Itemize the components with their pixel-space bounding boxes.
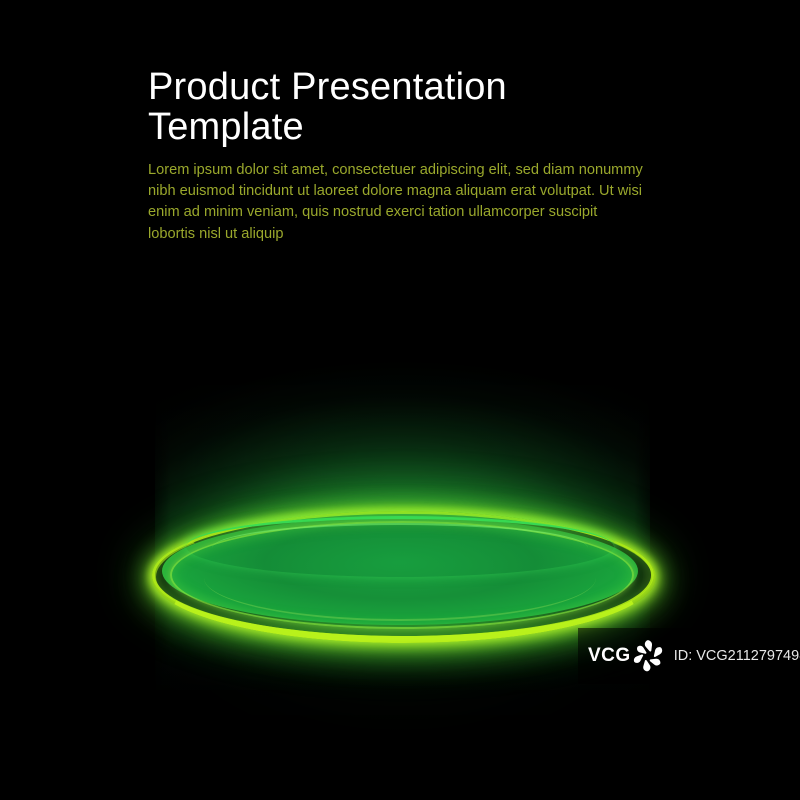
- disc-inner-ring: [170, 521, 634, 629]
- vcg-image-id: ID: VCG211279749813: [674, 648, 800, 664]
- disc-face-arc: [204, 535, 596, 621]
- vcg-pinwheel-icon: [628, 636, 668, 676]
- vcg-watermark: VCG ID: VCG211279749813: [578, 628, 800, 684]
- stage-glow-panel: [155, 345, 650, 690]
- vcg-logo: VCG: [588, 636, 668, 676]
- vcg-wordmark: VCG: [588, 645, 631, 667]
- ambient-glow-halo: [90, 330, 710, 750]
- stage-glow-panel-edge-mask: [155, 345, 650, 690]
- disc-outer-neon-ring: [152, 511, 654, 639]
- disc-top-edge-highlight: [186, 516, 614, 577]
- disc-lower-lime-lip: [152, 511, 656, 643]
- page-title: Product Presentation Template: [148, 68, 668, 148]
- neon-podium-disc: [150, 495, 650, 670]
- presentation-canvas: Product Presentation Template Lorem ipsu…: [0, 0, 800, 800]
- text-block: Product Presentation Template Lorem ipsu…: [148, 68, 668, 245]
- disc-top-face: [162, 517, 638, 625]
- disc-top-edge-highlight-secondary: [212, 523, 588, 573]
- body-paragraph: Lorem ipsum dolor sit amet, consectetuer…: [148, 160, 648, 245]
